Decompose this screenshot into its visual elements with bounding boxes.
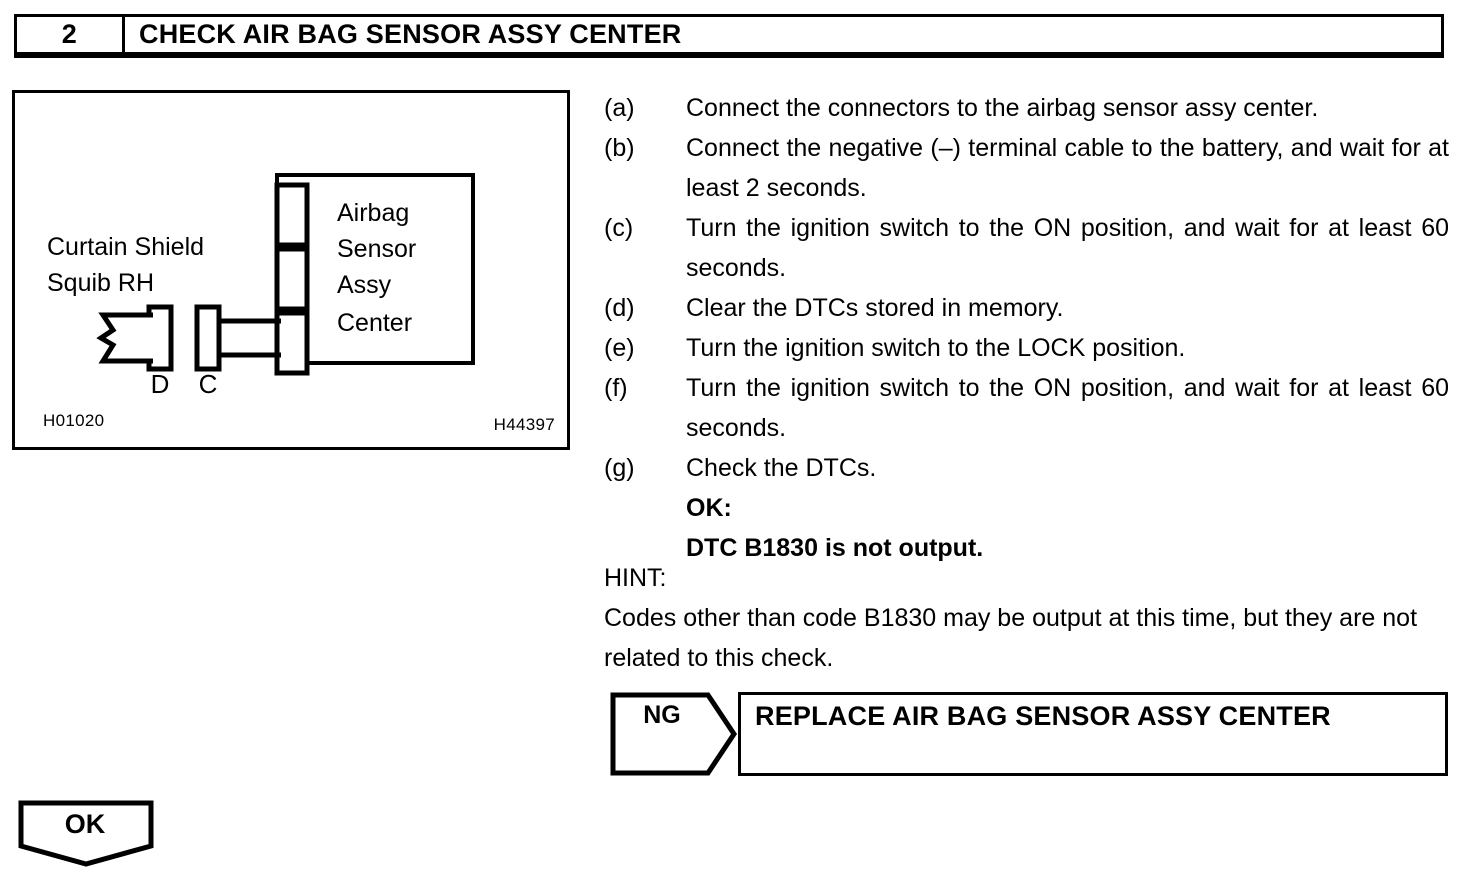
instruction-list: (a) Connect the connectors to the airbag… bbox=[604, 88, 1449, 568]
connector-c-block bbox=[197, 307, 219, 369]
ok-tag-label: OK bbox=[18, 802, 152, 846]
step-header-bar: 2 CHECK AIR BAG SENSOR ASSY CENTER bbox=[14, 14, 1444, 58]
hint-block: HINT: Codes other than code B1830 may be… bbox=[604, 558, 1452, 678]
step-number: 2 bbox=[62, 19, 78, 50]
instruction-item-b: (b) Connect the negative (–) terminal ca… bbox=[604, 128, 1449, 208]
instruction-text-g: Check the DTCs. bbox=[686, 448, 1449, 488]
instruction-item-a: (a) Connect the connectors to the airbag… bbox=[604, 88, 1449, 128]
instruction-item-g: (g) Check the DTCs. bbox=[604, 448, 1449, 488]
ok-criteria-label-row: OK: bbox=[604, 488, 1449, 528]
squib-label-line1: Curtain Shield bbox=[47, 233, 204, 261]
instruction-item-f: (f) Turn the ignition switch to the ON p… bbox=[604, 368, 1449, 448]
hint-text: Codes other than code B1830 may be outpu… bbox=[604, 598, 1452, 678]
ok-tag-shape: OK bbox=[18, 800, 158, 868]
ng-action-label: REPLACE AIR BAG SENSOR ASSY CENTER bbox=[755, 701, 1331, 732]
wiring-diagram-svg: D C Curtain Shield Squib RH Airbag Senso… bbox=[15, 93, 567, 447]
ok-criteria-label: OK: bbox=[686, 488, 1449, 528]
instruction-text-b: Connect the negative (–) terminal cable … bbox=[686, 128, 1449, 208]
instruction-text-e: Turn the ignition switch to the LOCK pos… bbox=[686, 328, 1449, 368]
instruction-text-c: Turn the ignition switch to the ON posit… bbox=[686, 208, 1449, 288]
sensor-label-line1: Airbag bbox=[337, 199, 409, 227]
ng-result-row: NG REPLACE AIR BAG SENSOR ASSY CENTER bbox=[610, 692, 1448, 776]
step-title-cell: CHECK AIR BAG SENSOR ASSY CENTER bbox=[125, 17, 1441, 52]
sensor-terminal-tab-2 bbox=[277, 249, 307, 309]
sensor-label-line3: Assy bbox=[337, 271, 392, 299]
connector-c-label: C bbox=[199, 369, 218, 399]
instruction-marker-g: (g) bbox=[604, 448, 686, 488]
ng-tag-shape: NG bbox=[610, 692, 738, 776]
hint-label: HINT: bbox=[604, 558, 1452, 598]
sensor-terminal-tab-3 bbox=[277, 313, 307, 373]
instruction-item-e: (e) Turn the ignition switch to the LOCK… bbox=[604, 328, 1449, 368]
instruction-marker-f: (f) bbox=[604, 368, 686, 408]
sensor-terminal-tab-1 bbox=[277, 185, 307, 245]
instruction-text-f: Turn the ignition switch to the ON posit… bbox=[686, 368, 1449, 448]
instruction-marker-a: (a) bbox=[604, 88, 686, 128]
sensor-label-line2: Sensor bbox=[337, 235, 416, 263]
instruction-item-d: (d) Clear the DTCs stored in memory. bbox=[604, 288, 1449, 328]
figure-code-left: H01020 bbox=[43, 411, 104, 431]
step-title: CHECK AIR BAG SENSOR ASSY CENTER bbox=[139, 19, 681, 50]
instruction-marker-c: (c) bbox=[604, 208, 686, 248]
squib-label-line2: Squib RH bbox=[47, 269, 154, 297]
step-number-cell: 2 bbox=[17, 17, 125, 52]
instruction-marker-d: (d) bbox=[604, 288, 686, 328]
figure-code-right: H44397 bbox=[494, 415, 555, 435]
connector-d-label: D bbox=[151, 369, 170, 399]
ng-tag-label: NG bbox=[610, 692, 714, 738]
wiring-diagram-panel: D C Curtain Shield Squib RH Airbag Senso… bbox=[12, 90, 570, 450]
sensor-label-line4: Center bbox=[337, 309, 412, 337]
squib-terminal-shape bbox=[101, 315, 153, 361]
instruction-item-c: (c) Turn the ignition switch to the ON p… bbox=[604, 208, 1449, 288]
instruction-marker-b: (b) bbox=[604, 128, 686, 168]
ng-action-box: REPLACE AIR BAG SENSOR ASSY CENTER bbox=[738, 692, 1448, 776]
instruction-marker-e: (e) bbox=[604, 328, 686, 368]
instruction-text-a: Connect the connectors to the airbag sen… bbox=[686, 88, 1449, 128]
instruction-text-d: Clear the DTCs stored in memory. bbox=[686, 288, 1449, 328]
